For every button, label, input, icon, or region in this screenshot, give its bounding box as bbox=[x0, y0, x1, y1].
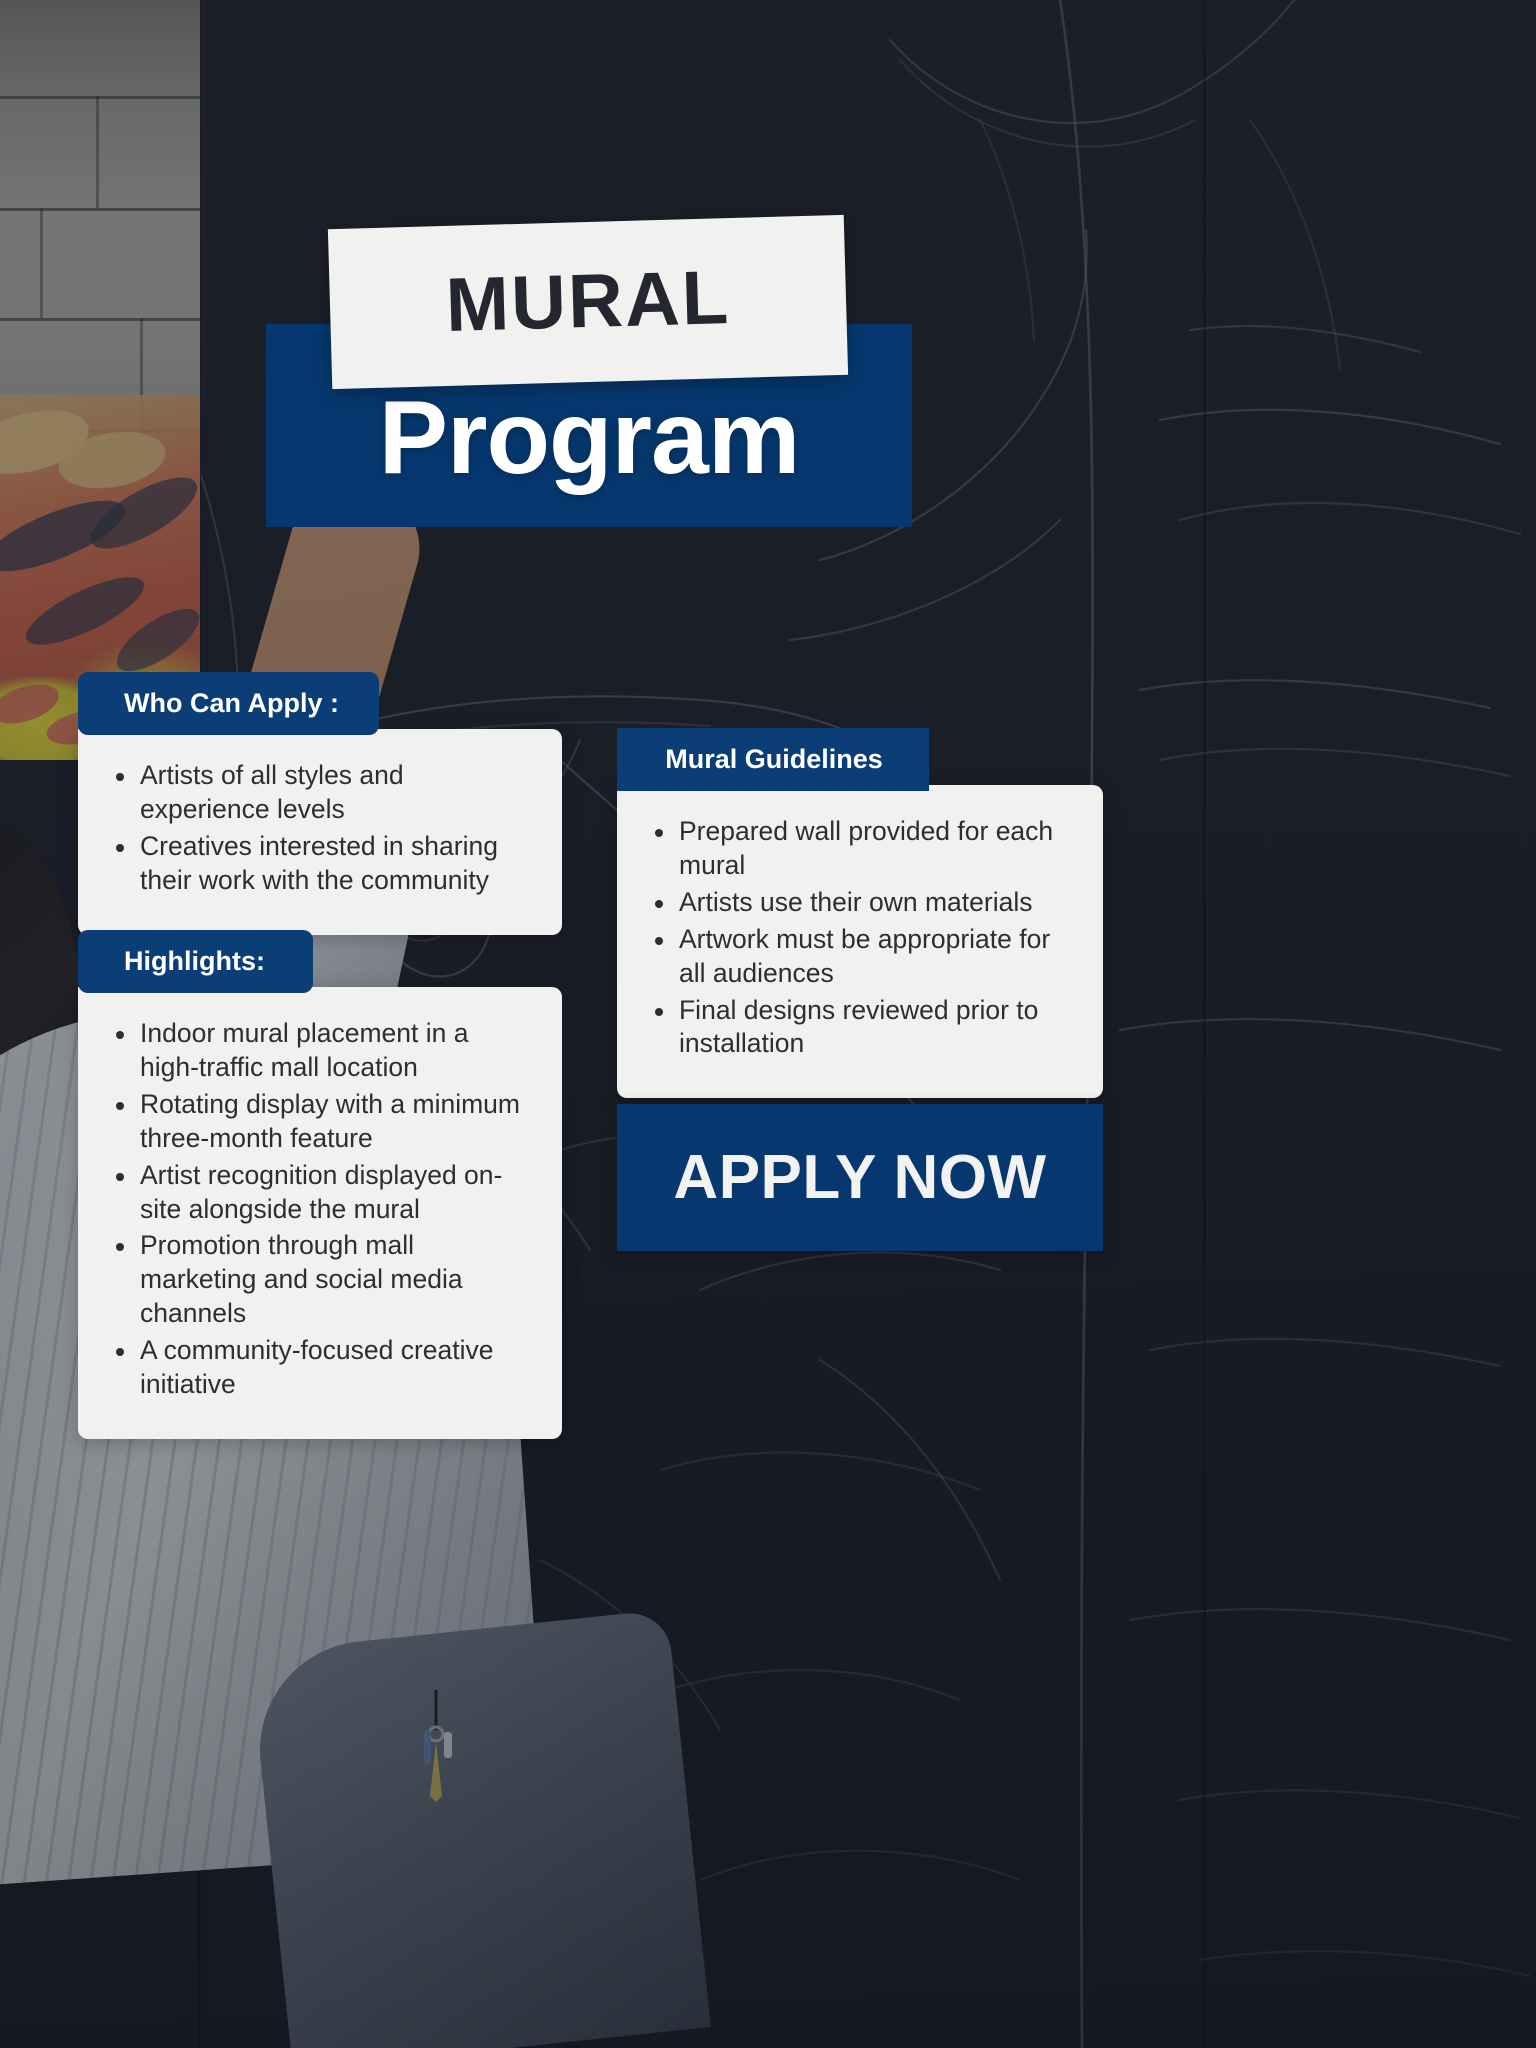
list-item: Creatives interested in sharing their wo… bbox=[108, 830, 528, 898]
mural-program-poster: Program MURAL Who Can Apply : Artists of… bbox=[0, 0, 1536, 2048]
list-item: Rotating display with a minimum three-mo… bbox=[108, 1088, 528, 1156]
card-who-can-apply-heading: Who Can Apply : bbox=[78, 672, 379, 735]
list-item: Prepared wall provided for each mural bbox=[647, 815, 1069, 883]
card-highlights-list: Indoor mural placement in a high-traffic… bbox=[108, 1017, 528, 1402]
list-item: Artists use their own materials bbox=[647, 886, 1069, 920]
list-item: Final designs reviewed prior to installa… bbox=[647, 994, 1069, 1062]
list-item: Artist recognition displayed on-site alo… bbox=[108, 1159, 528, 1227]
list-item: Indoor mural placement in a high-traffic… bbox=[108, 1017, 528, 1085]
card-highlights: Highlights: Indoor mural placement in a … bbox=[78, 930, 562, 1439]
card-who-can-apply-heading-label: Who Can Apply : bbox=[124, 688, 339, 719]
card-highlights-heading: Highlights: bbox=[78, 930, 313, 993]
card-mural-guidelines-heading: Mural Guidelines bbox=[617, 728, 929, 791]
card-who-can-apply-list: Artists of all styles and experience lev… bbox=[108, 759, 528, 898]
mural-title-band: MURAL bbox=[328, 215, 848, 389]
card-who-can-apply-body: Artists of all styles and experience lev… bbox=[78, 729, 562, 935]
card-mural-guidelines-body: Prepared wall provided for each mural Ar… bbox=[617, 785, 1103, 1098]
card-highlights-heading-label: Highlights: bbox=[124, 946, 265, 977]
list-item: Artwork must be appropriate for all audi… bbox=[647, 923, 1069, 991]
card-mural-guidelines-list: Prepared wall provided for each mural Ar… bbox=[647, 815, 1069, 1061]
list-item: Promotion through mall marketing and soc… bbox=[108, 1229, 528, 1331]
list-item: A community-focused creative initiative bbox=[108, 1334, 528, 1402]
card-mural-guidelines-heading-label: Mural Guidelines bbox=[665, 744, 883, 775]
card-who-can-apply: Who Can Apply : Artists of all styles an… bbox=[78, 672, 562, 935]
apply-now-button[interactable]: APPLY NOW bbox=[617, 1104, 1103, 1251]
list-item: Artists of all styles and experience lev… bbox=[108, 759, 528, 827]
title-line-mural: MURAL bbox=[445, 260, 731, 344]
apply-now-label: APPLY NOW bbox=[673, 1147, 1046, 1209]
card-mural-guidelines: Mural Guidelines Prepared wall provided … bbox=[617, 728, 1103, 1098]
card-highlights-body: Indoor mural placement in a high-traffic… bbox=[78, 987, 562, 1439]
